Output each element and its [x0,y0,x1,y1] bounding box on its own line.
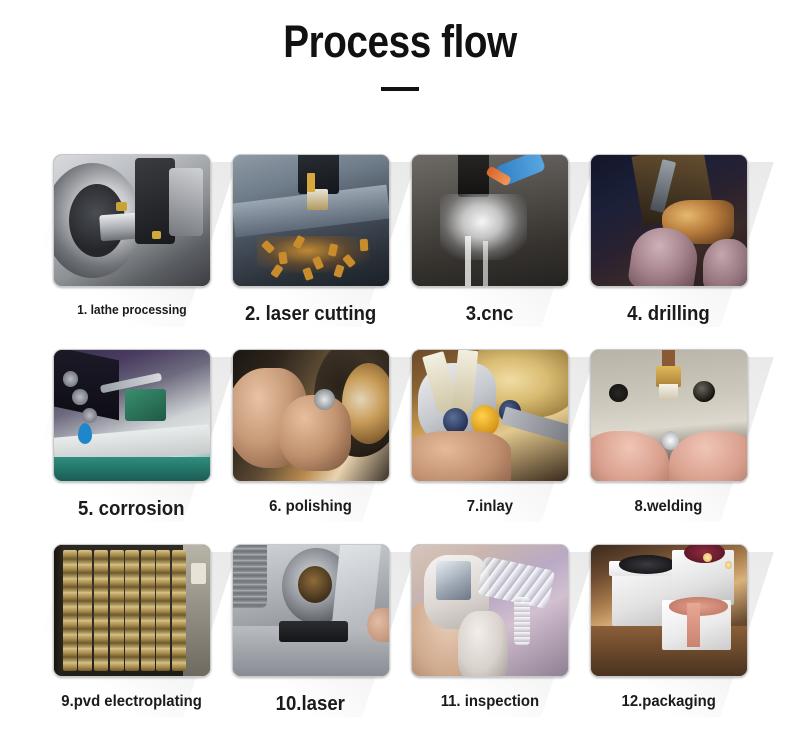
photo-layer [78,550,92,671]
process-step-thumbnail-1[interactable] [53,154,211,287]
photo-layer [458,154,489,197]
photo-layer [54,457,210,482]
photo-layer [298,566,332,603]
photo-layer [279,621,348,642]
photo-layer [307,173,315,191]
laser-photo [233,545,389,676]
photo-layer [662,431,679,449]
process-step-row: 1. lathe processing2. laser cutting3.cnc… [42,154,758,349]
process-step-label-5: 5. corrosion [78,498,184,520]
photo-layer [191,563,207,584]
process-step-thumbnail-6[interactable] [232,349,390,482]
photo-layer [152,231,161,239]
process-step-9[interactable]: 9.pvd electroplating [42,544,221,739]
process-step-label-1: 1. lathe processing [77,303,187,317]
process-step-label-8: 8.welding [635,498,703,516]
process-step-label-3: 3.cnc [466,303,514,325]
photo-layer [232,544,267,608]
photo-layer [411,431,512,482]
inlay-photo [412,350,568,481]
process-step-11[interactable]: 11. inspection [400,544,579,739]
process-step-thumbnail-9[interactable] [53,544,211,677]
process-step-thumbnail-4[interactable] [590,154,748,287]
process-step-row: 9.pvd electroplating10.laser11. inspecti… [42,544,758,739]
process-step-thumbnail-10[interactable] [232,544,390,677]
drilling-photo [591,155,747,286]
photo-layer [63,550,77,671]
process-step-4[interactable]: 4. drilling [579,154,758,349]
process-step-label-4: 4. drilling [627,303,710,325]
process-step-thumbnail-5[interactable] [53,349,211,482]
photo-layer [72,389,88,405]
corrosion-photo [54,350,210,481]
process-step-3[interactable]: 3.cnc [400,154,579,349]
process-step-thumbnail-8[interactable] [590,349,748,482]
pvd-electroplating-photo [54,545,210,676]
photo-layer [458,611,508,678]
welding-photo [591,350,747,481]
process-step-label-7: 7.inlay [466,498,512,516]
photo-layer [609,384,628,402]
photo-layer [82,408,98,424]
photo-layer [590,431,669,482]
photo-layer [483,241,488,286]
photo-layer [436,561,470,600]
photo-layer [367,608,390,642]
process-step-8[interactable]: 8.welding [579,349,758,544]
process-step-label-6: 6. polishing [269,498,352,516]
process-step-thumbnail-7[interactable] [411,349,569,482]
process-step-label-2: 2. laser cutting [245,303,376,325]
process-step-label-11: 11. inspection [440,693,538,711]
process-step-thumbnail-3[interactable] [411,154,569,287]
photo-layer [172,550,186,671]
process-step-thumbnail-11[interactable] [411,544,569,677]
process-step-grid: 1. lathe processing2. laser cutting3.cnc… [42,154,758,739]
photo-layer [693,381,715,402]
process-step-1[interactable]: 1. lathe processing [42,154,221,349]
photo-layer [156,550,170,671]
process-step-thumbnail-12[interactable] [590,544,748,677]
process-step-label-10: 10.laser [276,693,345,715]
photo-layer [669,431,748,482]
inspection-photo [412,545,568,676]
process-step-5[interactable]: 5. corrosion [42,349,221,544]
process-step-12[interactable]: 12.packaging [579,544,758,739]
lathe-photo [54,155,210,286]
photo-layer [659,384,678,400]
polishing-photo [233,350,389,481]
photo-layer [703,239,748,287]
photo-layer [307,189,327,210]
process-step-6[interactable]: 6. polishing [221,349,400,544]
photo-layer [141,550,155,671]
photo-layer [94,550,108,671]
process-step-label-12: 12.packaging [621,693,715,711]
photo-layer [687,603,699,648]
photo-layer [360,239,368,251]
process-step-10[interactable]: 10.laser [221,544,400,739]
photo-layer [63,371,79,387]
photo-layer [514,597,530,644]
photo-layer [619,555,675,573]
page-title: Process flow [56,18,744,65]
process-step-row: 5. corrosion6. polishing7.inlay8.welding [42,349,758,544]
photo-layer [110,550,124,671]
photo-layer [725,561,733,569]
page-header: Process flow [0,0,800,91]
title-divider [381,87,419,91]
photo-layer [125,389,166,420]
process-step-thumbnail-2[interactable] [232,154,390,287]
photo-layer [116,202,127,211]
process-step-2[interactable]: 2. laser cutting [221,154,400,349]
laser-cutting-photo [233,155,389,286]
photo-layer [125,550,139,671]
process-step-label-9: 9.pvd electroplating [61,693,202,711]
process-step-7[interactable]: 7.inlay [400,349,579,544]
photo-layer [465,236,471,286]
photo-layer [169,168,203,236]
packaging-photo [591,545,747,676]
photo-layer [443,408,468,434]
cnc-photo [412,155,568,286]
photo-layer [54,545,63,676]
